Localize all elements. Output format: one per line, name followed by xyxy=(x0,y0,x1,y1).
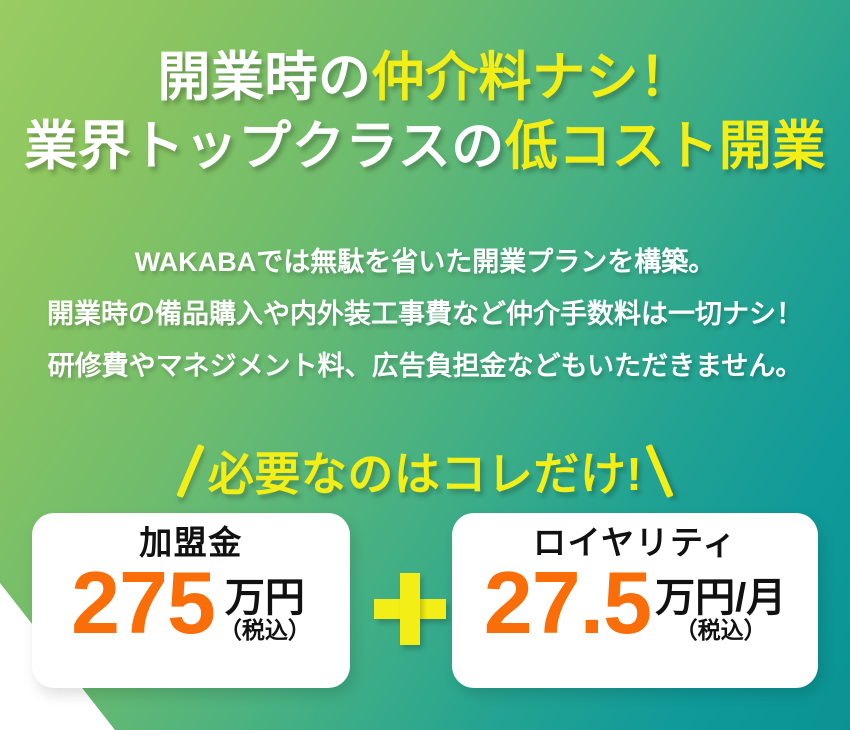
headline-line-2: 業界トップクラスの低コスト開業 xyxy=(0,113,850,182)
page-title: 開業時の仲介料ナシ！ 業界トップクラスの低コスト開業 xyxy=(0,44,850,182)
body-copy-line-3: 研修費やマネジメント料、広告負担金などもいただきません。 xyxy=(0,341,850,393)
plus-icon xyxy=(374,573,446,645)
callout-need-line: 必要なのはコレだけ! xyxy=(0,440,850,502)
plus-icon-vertical-bar xyxy=(400,573,420,645)
callout-need-text: 必要なのはコレだけ! xyxy=(208,438,642,504)
price-tax-note: （税込） xyxy=(219,618,311,643)
headline-line-2-white: 業界トップクラスの xyxy=(24,117,504,176)
price-tax-note: （税込） xyxy=(675,618,767,643)
price-unit: 万円 xyxy=(225,578,305,619)
right-slash-icon xyxy=(645,444,673,498)
price-amount: 27.5 xyxy=(484,561,651,645)
price-unit-stack: 万円 （税込） xyxy=(219,578,311,645)
headline-line-1-white: 開業時の xyxy=(158,48,372,107)
body-copy: WAKABAでは無駄を省いた開業プランを構築。 開業時の備品購入や内外装工事費な… xyxy=(0,237,850,392)
headline-line-1-highlight: 仲介料ナシ！ xyxy=(372,48,693,107)
price-card-royalty: ロイヤリティ 27.5 万円/月 （税込） xyxy=(452,513,818,688)
price-unit: 万円/月 xyxy=(655,578,786,619)
body-copy-line-1: WAKABAでは無駄を省いた開業プランを構築。 xyxy=(0,237,850,289)
body-copy-line-2: 開業時の備品購入や内外装工事費など仲介手数料は一切ナシ！ xyxy=(0,289,850,341)
headline-line-2-highlight: 低コスト開業 xyxy=(505,117,826,176)
price-amount: 275 xyxy=(71,561,215,645)
promo-banner: 開業時の仲介料ナシ！ 業界トップクラスの低コスト開業 WAKABAでは無駄を省い… xyxy=(0,0,850,730)
price-unit-stack: 万円/月 （税込） xyxy=(655,578,786,645)
headline-line-1: 開業時の仲介料ナシ！ xyxy=(0,44,850,113)
price-row: 275 万円 （税込） xyxy=(71,561,311,645)
left-slash-icon xyxy=(176,444,204,498)
price-row: 27.5 万円/月 （税込） xyxy=(484,561,786,645)
price-card-joining-fee: 加盟金 275 万円 （税込） xyxy=(32,513,350,688)
